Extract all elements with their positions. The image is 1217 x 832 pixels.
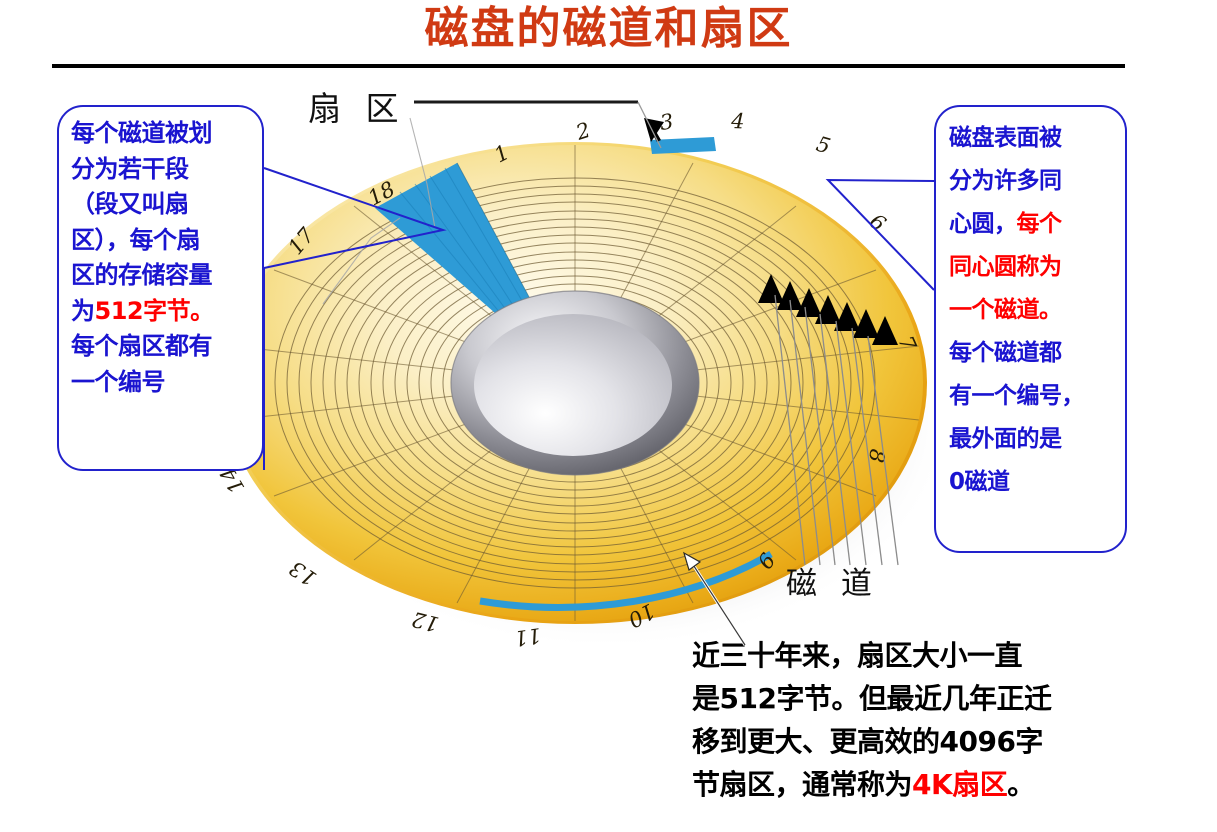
- sector-number-11: 11: [513, 623, 543, 650]
- callout-left-line-1: 每个磁道被划: [71, 119, 212, 147]
- callout-left-line-6: 为: [71, 297, 95, 325]
- track-definition-callout[interactable]: 磁盘表面被 分为许多同 心圆，每个 同心圆称为 一个磁道。 每个磁道都 有一个编…: [934, 105, 1127, 553]
- sector-number-3: 3: [658, 109, 675, 135]
- sector-number-4: 4: [730, 109, 745, 133]
- callout-left-line-2: 分为若干段: [71, 155, 189, 183]
- callout-left-line-3: （段又叫扇: [71, 190, 189, 218]
- callout-left-line-5: 区的存储容量: [71, 261, 212, 289]
- sector-definition-callout[interactable]: 每个磁道被划 分为若干段 （段又叫扇 区），每个扇 区的存储容量 为512字节。…: [57, 105, 264, 471]
- track-definition-text: 磁盘表面被 分为许多同 心圆，每个 同心圆称为 一个磁道。 每个磁道都 有一个编…: [949, 117, 1121, 504]
- bottom-note-line-4: 节扇区，通常称为: [692, 768, 912, 801]
- callout-left-line-9: 一个编号: [71, 368, 165, 396]
- callout-right-highlight-2: 同心圆称为: [949, 254, 1062, 280]
- callout-right-highlight-1: 每个: [1017, 211, 1062, 237]
- sector-size-history-note: 近三十年来，扇区大小一直 是512字节。但最近几年正迁 移到更大、更高效的409…: [692, 634, 1162, 806]
- callout-right-line-2: 分为许多同: [949, 168, 1062, 194]
- callout-right-highlight-3: 一个磁道。: [949, 297, 1062, 323]
- sector-number-6: 6: [865, 209, 890, 236]
- title-divider: [52, 64, 1125, 68]
- page-title: 磁盘的磁道和扇区: [0, 2, 1217, 56]
- slide-canvas: 磁盘的磁道和扇区: [0, 0, 1217, 832]
- sector-number-2: 2: [572, 118, 593, 145]
- sector-definition-text: 每个磁道被划 分为若干段 （段又叫扇 区），每个扇 区的存储容量 为512字节。…: [71, 116, 257, 400]
- callout-right-line-9: 最外面的是: [949, 426, 1062, 452]
- callout-left-line-8: 每个扇区都有: [71, 332, 212, 360]
- sector-label: 扇 区: [308, 82, 406, 130]
- callout-right-line-10: 0磁道: [949, 469, 1010, 495]
- callout-right-line-3: 心圆，: [949, 211, 1017, 237]
- callout-right-line-8: 有一个编号，: [949, 383, 1084, 409]
- bottom-note-line-1: 近三十年来，扇区大小一直: [692, 639, 1022, 672]
- bottom-note-line-6: 。: [1007, 768, 1035, 801]
- sector-size-history-text: 近三十年来，扇区大小一直 是512字节。但最近几年正迁 移到更大、更高效的409…: [692, 634, 1162, 806]
- bottom-note-line-2: 是512字节。但最近几年正迁: [692, 682, 1051, 715]
- disk-hub-inner: [474, 314, 672, 456]
- track-label: 磁 道: [786, 558, 879, 603]
- callout-right-line-1: 磁盘表面被: [949, 125, 1062, 151]
- callout-right-line-7: 每个磁道都: [949, 340, 1062, 366]
- bottom-note-line-3: 移到更大、更高效的4096字: [692, 725, 1043, 758]
- sector-number-13: 13: [285, 556, 321, 591]
- bottom-note-highlight: 4K扇区: [912, 768, 1007, 801]
- callout-left-highlight: 512字节。: [95, 297, 214, 325]
- sector-number-5: 5: [814, 132, 833, 159]
- callout-left-line-4: 区），每个扇: [71, 226, 200, 254]
